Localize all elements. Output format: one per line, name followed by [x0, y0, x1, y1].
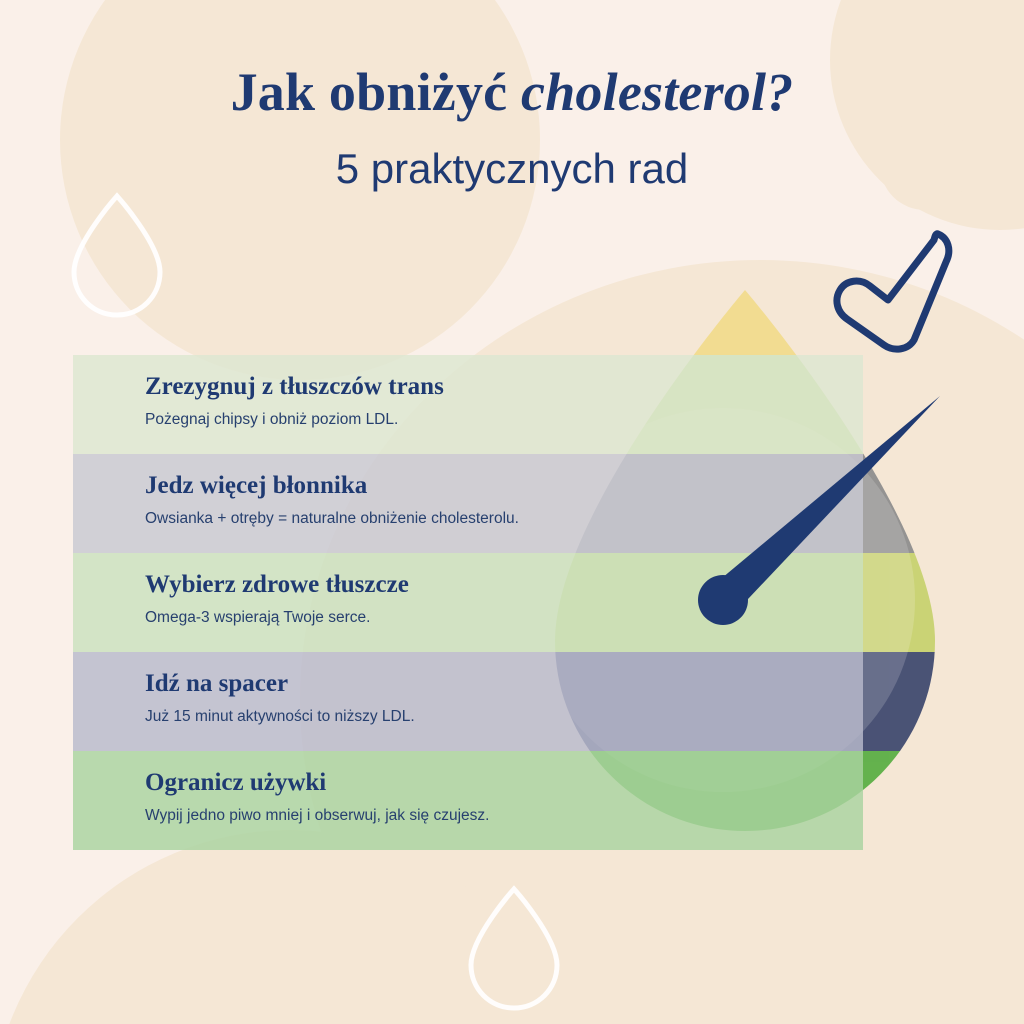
tip-row[interactable]: Jedz więcej błonnika Owsianka + otręby =…: [73, 454, 863, 553]
tip-description: Owsianka + otręby = naturalne obniżenie …: [145, 510, 863, 529]
header: Jak obniżyć cholesterol? 5 praktycznych …: [0, 62, 1024, 195]
tip-description: Omega-3 wspierają Twoje serce.: [145, 609, 863, 628]
tip-title: Ogranicz używki: [145, 769, 863, 798]
page-title-main: Jak obniżyć: [231, 62, 521, 122]
tip-row[interactable]: Wybierz zdrowe tłuszcze Omega-3 wspieraj…: [73, 553, 863, 652]
tip-row[interactable]: Idź na spacer Już 15 minut aktywności to…: [73, 652, 863, 751]
infographic-canvas: Zrezygnuj z tłuszczów trans Pożegnaj chi…: [0, 0, 1024, 1024]
check-mark-icon: [837, 234, 949, 349]
tips-list: Zrezygnuj z tłuszczów trans Pożegnaj chi…: [73, 355, 863, 850]
droplet-outline-icon: [471, 889, 557, 1008]
tip-row[interactable]: Ogranicz używki Wypij jedno piwo mniej i…: [73, 751, 863, 850]
decor-circle-bottom-left: [0, 830, 590, 1024]
tip-title: Jedz więcej błonnika: [145, 472, 863, 501]
tip-description: Wypij jedno piwo mniej i obserwuj, jak s…: [145, 807, 863, 826]
page-subtitle: 5 praktycznych rad: [0, 144, 1024, 194]
tip-title: Idź na spacer: [145, 670, 863, 699]
drop-band-yellow: [540, 280, 960, 358]
tip-row[interactable]: Zrezygnuj z tłuszczów trans Pożegnaj chi…: [73, 355, 863, 454]
page-title-emphasis: cholesterol?: [521, 62, 793, 122]
tip-title: Wybierz zdrowe tłuszcze: [145, 571, 863, 600]
droplet-outline-icon: [74, 196, 160, 315]
tip-title: Zrezygnuj z tłuszczów trans: [145, 373, 863, 402]
tip-description: Pożegnaj chipsy i obniż poziom LDL.: [145, 411, 863, 430]
tip-description: Już 15 minut aktywności to niższy LDL.: [145, 708, 863, 727]
page-title: Jak obniżyć cholesterol?: [0, 62, 1024, 122]
